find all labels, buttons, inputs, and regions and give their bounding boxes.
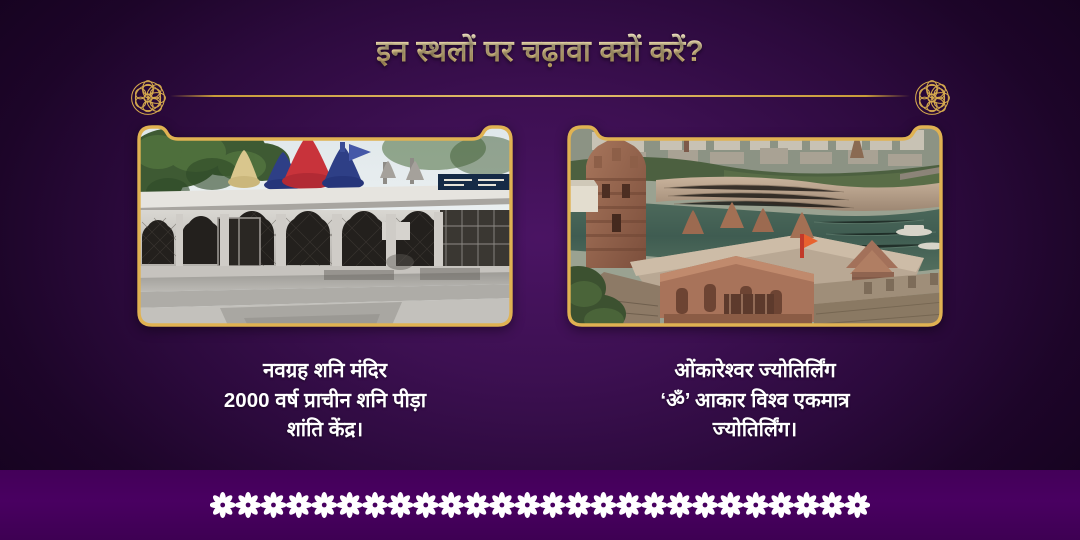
flower-glyph <box>692 492 718 518</box>
flower-glyph <box>438 492 464 518</box>
flower-glyph <box>743 492 769 518</box>
caption-line: ओंकारेश्वर ज्योतिर्लिंग <box>564 356 946 386</box>
flower-glyph <box>464 492 490 518</box>
divider-rule <box>170 95 910 97</box>
image-frame-2 <box>564 122 946 330</box>
flower-glyph <box>286 492 312 518</box>
caption-line: शांति केंद्र। <box>134 415 516 445</box>
flower-glyph <box>717 492 743 518</box>
poster-canvas: इन स्थलों पर चढ़ावा क्यों करें? <box>0 0 1080 540</box>
card-caption-2: ओंकारेश्वर ज्योतिर्लिंग ‘ॐ’ आकार विश्व ए… <box>564 356 946 445</box>
photo-omkareshwar-jyotirling <box>564 122 946 330</box>
flower-glyph <box>413 492 439 518</box>
flower-glyph <box>235 492 261 518</box>
bottom-flower-border <box>0 470 1080 540</box>
flower-glyph <box>260 492 286 518</box>
flower-glyph <box>540 492 566 518</box>
cards-row: नवग्रह शनि मंदिर 2000 वर्ष प्राचीन शनि प… <box>0 122 1080 445</box>
flower-glyph <box>311 492 337 518</box>
card-caption-1: नवग्रह शनि मंदिर 2000 वर्ष प्राचीन शनि प… <box>134 356 516 445</box>
rosette-ornament-right <box>910 76 954 116</box>
flower-glyph <box>819 492 845 518</box>
flower-glyph <box>565 492 591 518</box>
image-frame-1 <box>134 122 516 330</box>
flower-glyph <box>514 492 540 518</box>
card-navgrah-shani-mandir[interactable]: नवग्रह शनि मंदिर 2000 वर्ष प्राचीन शनि प… <box>134 122 516 445</box>
caption-line: ज्योतिर्लिंग। <box>564 415 946 445</box>
flower-glyph <box>590 492 616 518</box>
flower-glyph <box>794 492 820 518</box>
caption-line: नवग्रह शनि मंदिर <box>134 356 516 386</box>
flower-glyph <box>362 492 388 518</box>
flower-glyph <box>667 492 693 518</box>
caption-line: 2000 वर्ष प्राचीन शनि पीड़ा <box>134 386 516 416</box>
divider <box>0 76 1080 116</box>
card-omkareshwar-jyotirling[interactable]: ओंकारेश्वर ज्योतिर्लिंग ‘ॐ’ आकार विश्व ए… <box>564 122 946 445</box>
page-title: इन स्थलों पर चढ़ावा क्यों करें? <box>376 32 704 73</box>
flower-glyph <box>387 492 413 518</box>
flower-glyph <box>641 492 667 518</box>
title-container: इन स्थलों पर चढ़ावा क्यों करें? <box>0 32 1080 73</box>
flower-glyph <box>210 492 236 518</box>
flower-glyph <box>337 492 363 518</box>
flower-glyph <box>768 492 794 518</box>
flower-glyph <box>844 492 870 518</box>
caption-line: ‘ॐ’ आकार विश्व एकमात्र <box>564 386 946 416</box>
photo-navgrah-shani-mandir <box>134 122 516 330</box>
flower-glyph <box>489 492 515 518</box>
rosette-ornament-left <box>126 76 170 116</box>
flower-glyph <box>616 492 642 518</box>
